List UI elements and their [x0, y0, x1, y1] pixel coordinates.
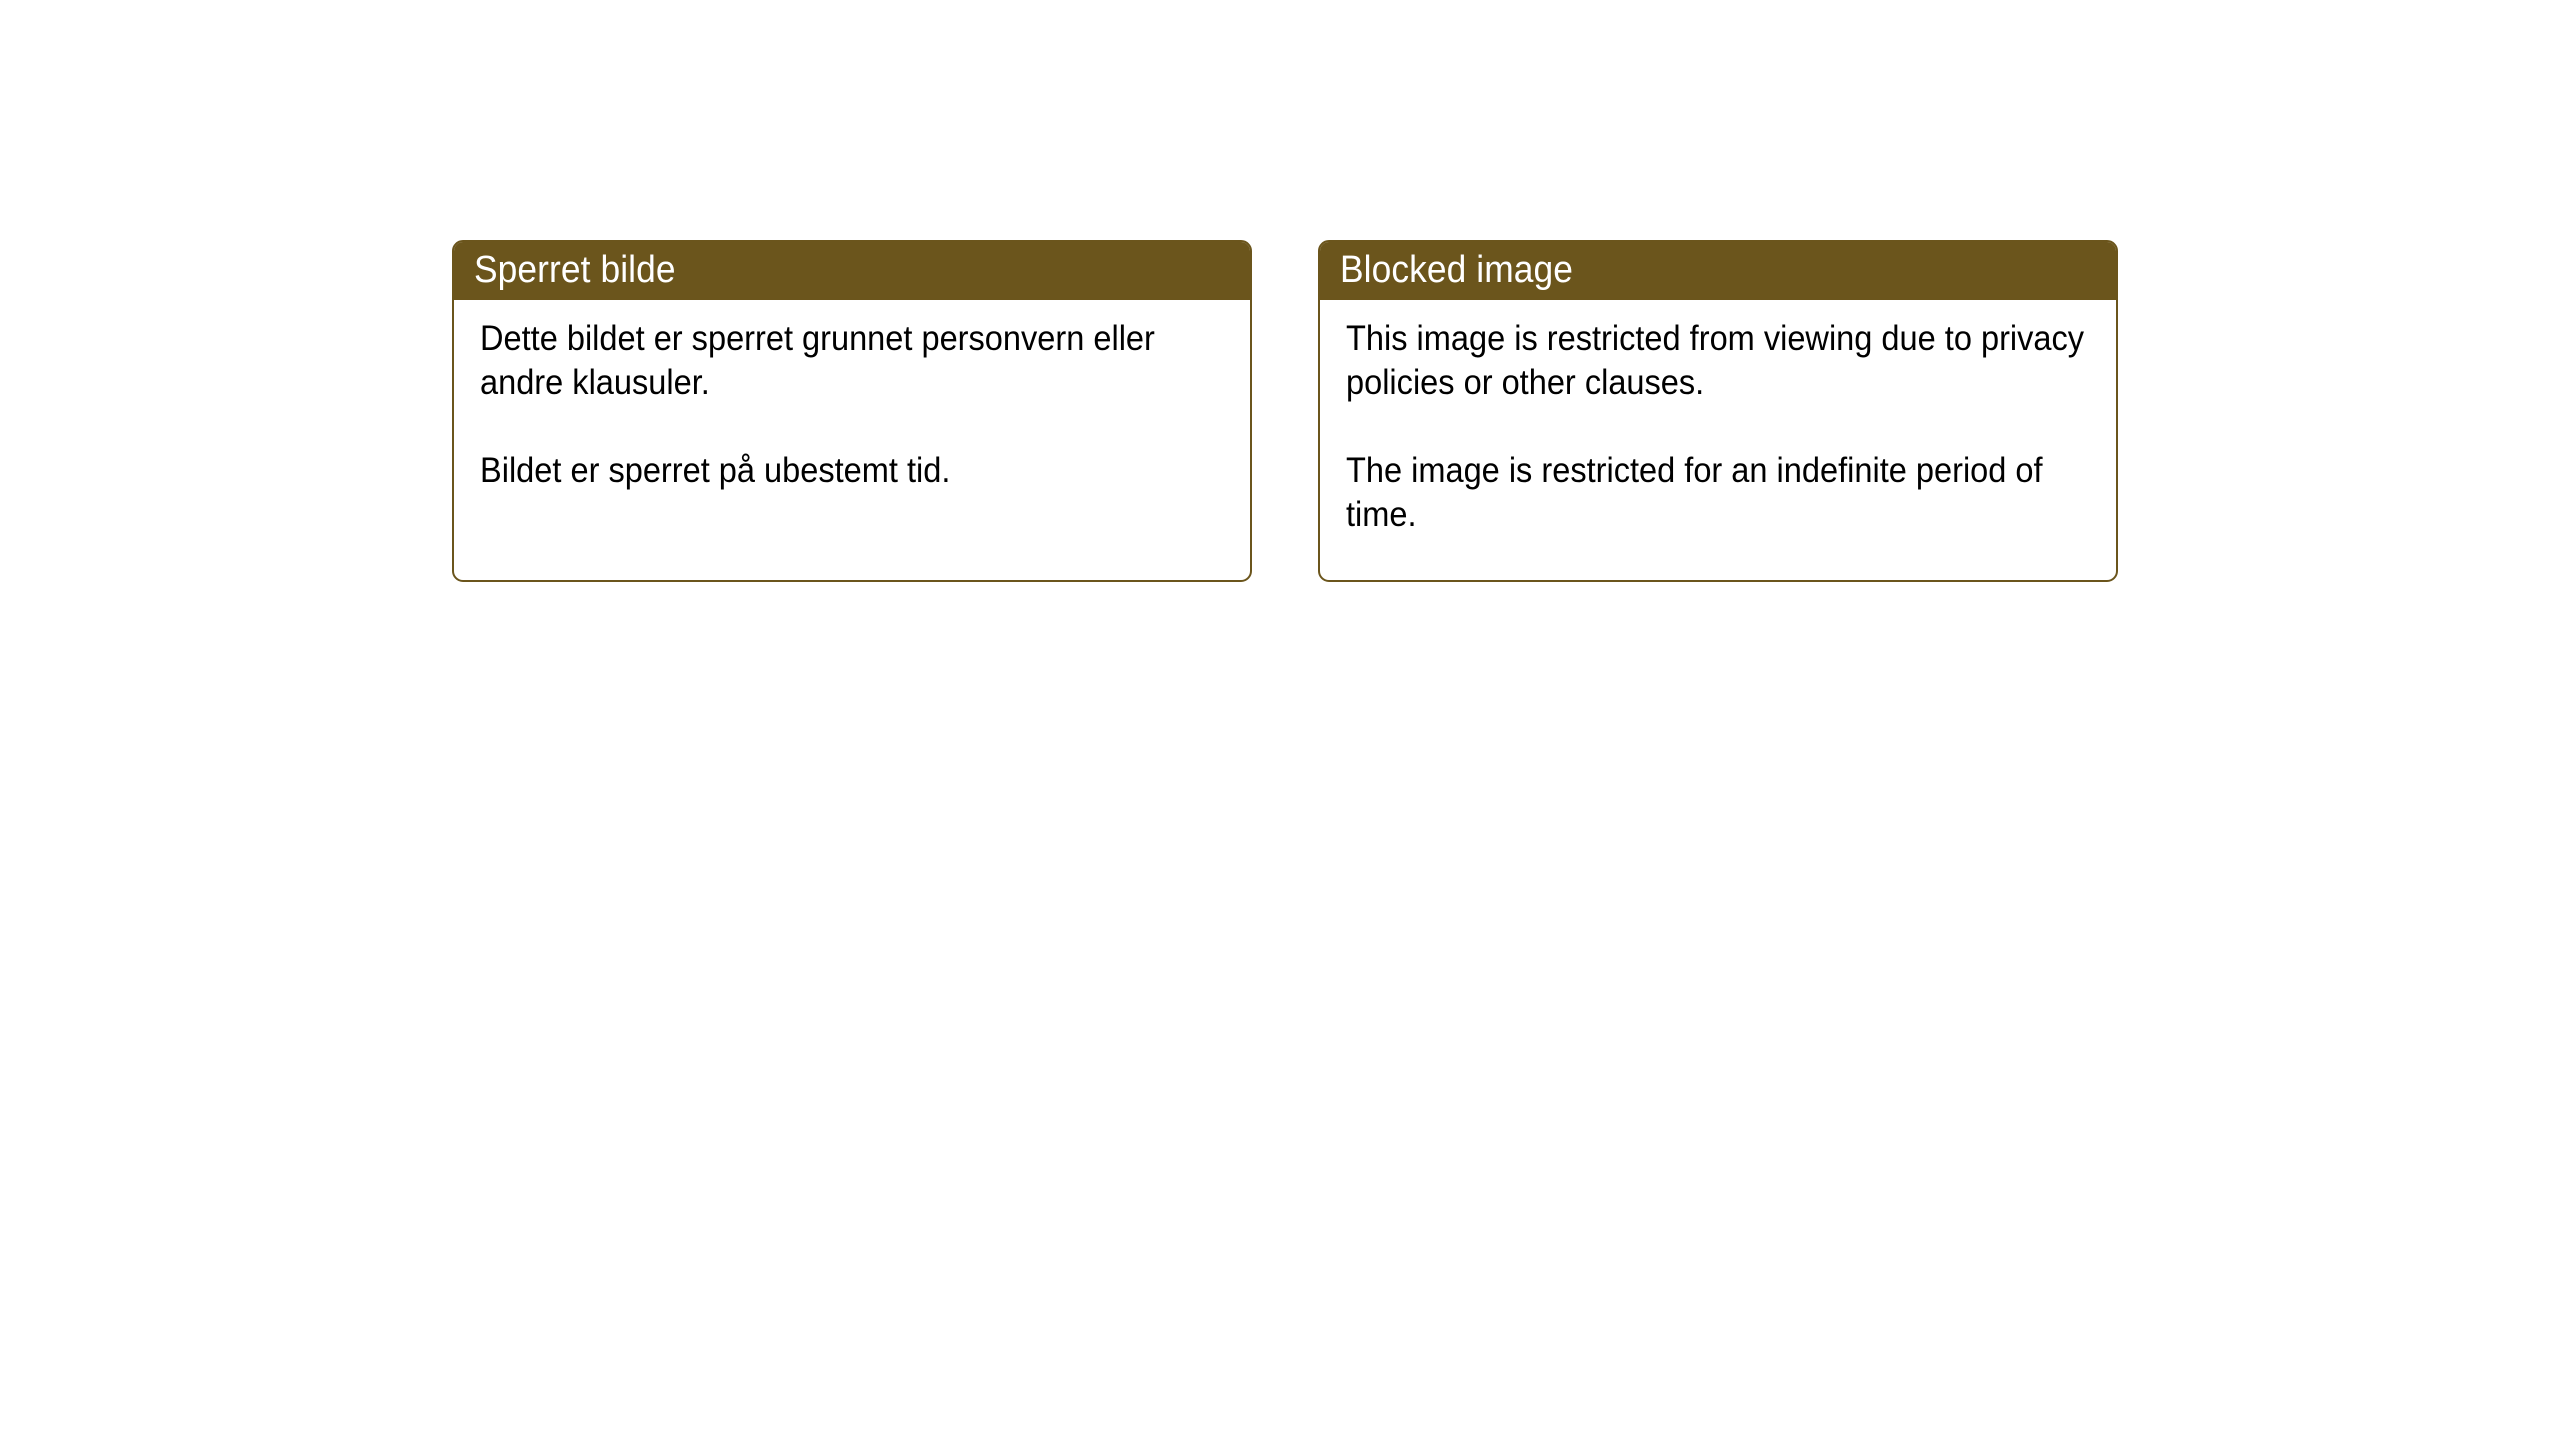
card-body-en: This image is restricted from viewing du… — [1320, 300, 2116, 537]
card-paragraph-secondary-no: Bildet er sperret på ubestemt tid. — [480, 449, 1224, 493]
card-paragraph-primary-en: This image is restricted from viewing du… — [1346, 317, 2090, 405]
card-title-en: Blocked image — [1340, 251, 1573, 289]
blocked-image-notice-en: Blocked image This image is restricted f… — [1318, 240, 2118, 582]
card-body-no: Dette bildet er sperret grunnet personve… — [454, 300, 1250, 493]
card-paragraph-primary-no: Dette bildet er sperret grunnet personve… — [480, 317, 1224, 405]
blocked-image-notice-no: Sperret bilde Dette bildet er sperret gr… — [452, 240, 1252, 582]
card-header-en: Blocked image — [1318, 240, 2118, 300]
page-root: Sperret bilde Dette bildet er sperret gr… — [0, 0, 2560, 1440]
card-title-no: Sperret bilde — [474, 251, 676, 289]
card-paragraph-secondary-en: The image is restricted for an indefinit… — [1346, 449, 2090, 537]
card-header-no: Sperret bilde — [452, 240, 1252, 300]
